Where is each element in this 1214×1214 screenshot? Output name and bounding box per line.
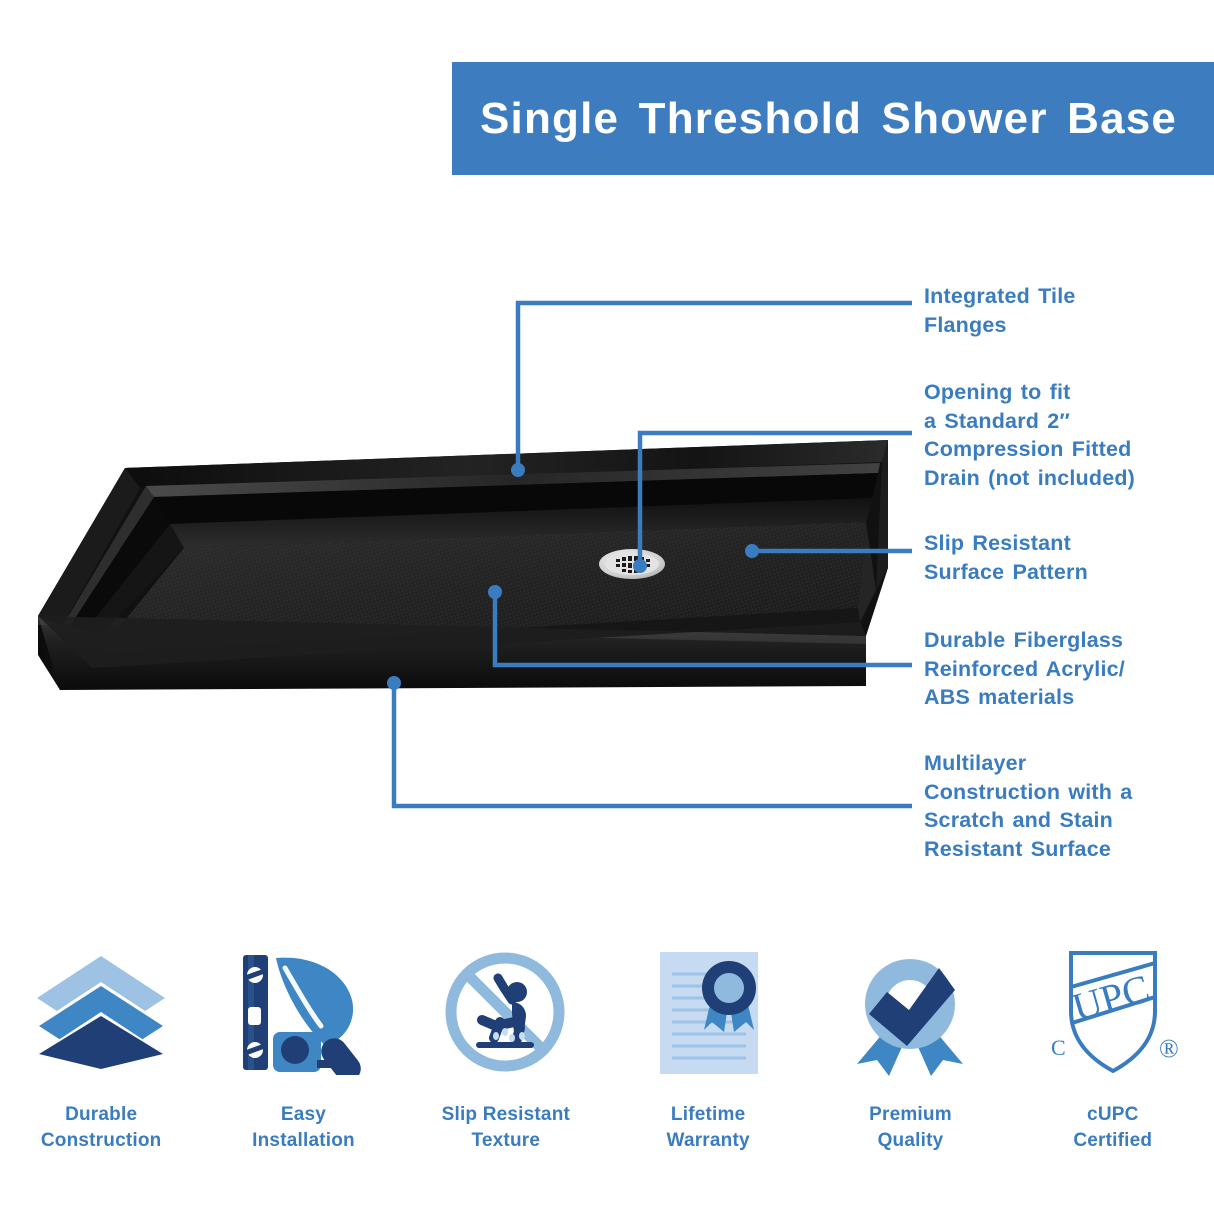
upc-shield-right-text: ® — [1159, 1034, 1179, 1063]
callout-line: Durable Fiberglass — [924, 626, 1125, 655]
no-slip-icon — [438, 945, 573, 1080]
page-title: Single Threshold Shower Base — [452, 94, 1177, 144]
drain-opening-graphic — [599, 549, 665, 579]
feature-easy-installation: Easy Installation — [202, 945, 404, 1190]
feature-caption: Durable Construction — [41, 1102, 162, 1153]
callout-slip-resistant-surface: Slip Resistant Surface Pattern — [924, 529, 1088, 586]
feature-durable-construction: Durable Construction — [0, 945, 202, 1190]
upc-shield-icon: UPC C ® — [1043, 945, 1183, 1080]
caption-line: cUPC — [1073, 1102, 1152, 1128]
caption-line: Texture — [442, 1128, 570, 1154]
feature-caption: Easy Installation — [252, 1102, 355, 1153]
callout-line: Compression Fitted — [924, 435, 1135, 464]
trowel-level-icon — [233, 945, 373, 1080]
layers-icon — [31, 945, 171, 1080]
caption-line: Installation — [252, 1128, 355, 1154]
caption-line: Easy — [252, 1102, 355, 1128]
callout-line: Opening to fit — [924, 378, 1135, 407]
feature-premium-quality: Premium Quality — [809, 945, 1011, 1190]
callout-line: Drain (not included) — [924, 464, 1135, 493]
title-banner: Single Threshold Shower Base — [452, 62, 1214, 175]
callout-durable-materials: Durable Fiberglass Reinforced Acrylic/ A… — [924, 626, 1125, 712]
certificate-icon — [646, 945, 771, 1080]
callout-line: Surface Pattern — [924, 558, 1088, 587]
caption-line: Warranty — [667, 1128, 750, 1154]
caption-line: Quality — [869, 1128, 952, 1154]
caption-line: Slip Resistant — [442, 1102, 570, 1128]
callout-integrated-tile-flanges: Integrated Tile Flanges — [924, 282, 1076, 339]
callout-line: Scratch and Stain — [924, 806, 1132, 835]
feature-slip-resistant-texture: Slip Resistant Texture — [405, 945, 607, 1190]
shower-base-illustration — [20, 440, 900, 730]
upc-shield-left-text: C — [1051, 1035, 1066, 1060]
caption-line: Premium — [869, 1102, 952, 1128]
feature-caption: Premium Quality — [869, 1102, 952, 1153]
callout-line: Construction with a — [924, 778, 1132, 807]
caption-line: Certified — [1073, 1128, 1152, 1154]
feature-lifetime-warranty: Lifetime Warranty — [607, 945, 809, 1190]
caption-line: Lifetime — [667, 1102, 750, 1128]
callout-line: Resistant Surface — [924, 835, 1132, 864]
callout-line: Flanges — [924, 311, 1076, 340]
callout-line: a Standard 2″ — [924, 407, 1135, 436]
upc-shield-main-text: UPC — [1067, 965, 1154, 1030]
callout-line: ABS materials — [924, 683, 1125, 712]
product-image — [20, 440, 900, 730]
infographic-page: Single Threshold Shower Base — [0, 0, 1214, 1214]
callout-line: Multilayer — [924, 749, 1132, 778]
callout-multilayer-construction: Multilayer Construction with a Scratch a… — [924, 749, 1132, 863]
caption-line: Durable — [41, 1102, 162, 1128]
callout-line: Slip Resistant — [924, 529, 1088, 558]
feature-badges-row: Durable Construction — [0, 945, 1214, 1190]
check-rosette-icon — [845, 945, 975, 1080]
feature-caption: cUPC Certified — [1073, 1102, 1152, 1153]
callout-line: Reinforced Acrylic/ — [924, 655, 1125, 684]
feature-cupc-certified: UPC C ® cUPC Certified — [1012, 945, 1214, 1190]
caption-line: Construction — [41, 1128, 162, 1154]
feature-caption: Lifetime Warranty — [667, 1102, 750, 1153]
callout-line: Integrated Tile — [924, 282, 1076, 311]
feature-caption: Slip Resistant Texture — [442, 1102, 570, 1153]
callout-drain-opening: Opening to fit a Standard 2″ Compression… — [924, 378, 1135, 492]
